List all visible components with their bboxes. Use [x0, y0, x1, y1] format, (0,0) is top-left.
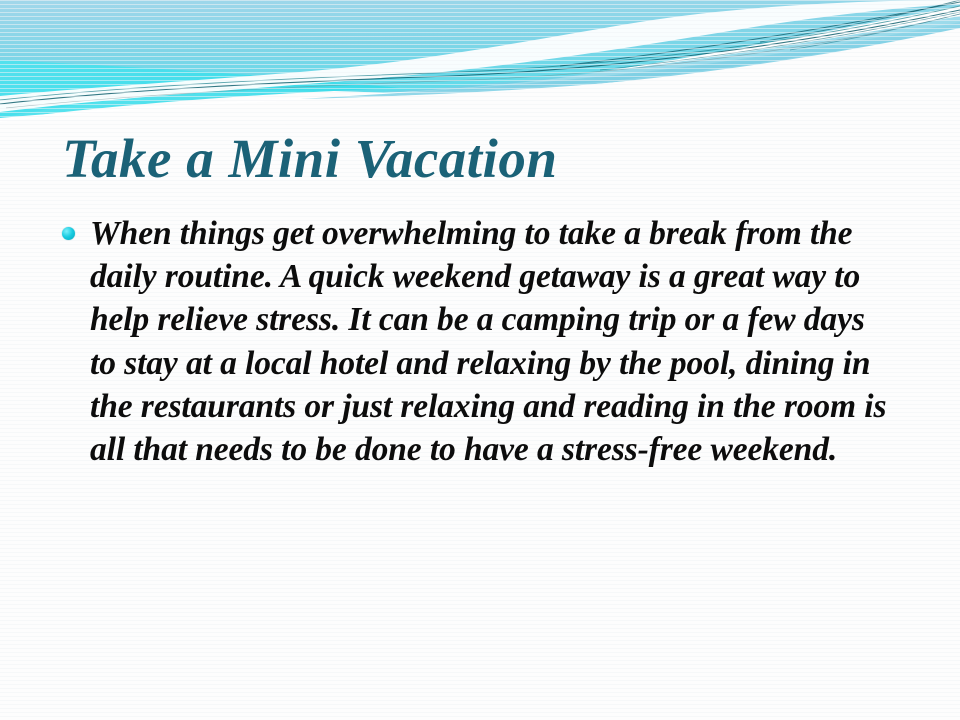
- bullet-list: When things get overwhelming to take a b…: [58, 212, 898, 471]
- list-item: When things get overwhelming to take a b…: [58, 212, 898, 471]
- bullet-dot-icon: [62, 227, 75, 240]
- teal-wave-banner-decoration: [0, 0, 960, 130]
- presentation-slide: Take a Mini Vacation When things get ove…: [0, 0, 960, 720]
- list-item-label: When things get overwhelming to take a b…: [90, 212, 898, 471]
- page-title: Take a Mini Vacation: [62, 128, 557, 190]
